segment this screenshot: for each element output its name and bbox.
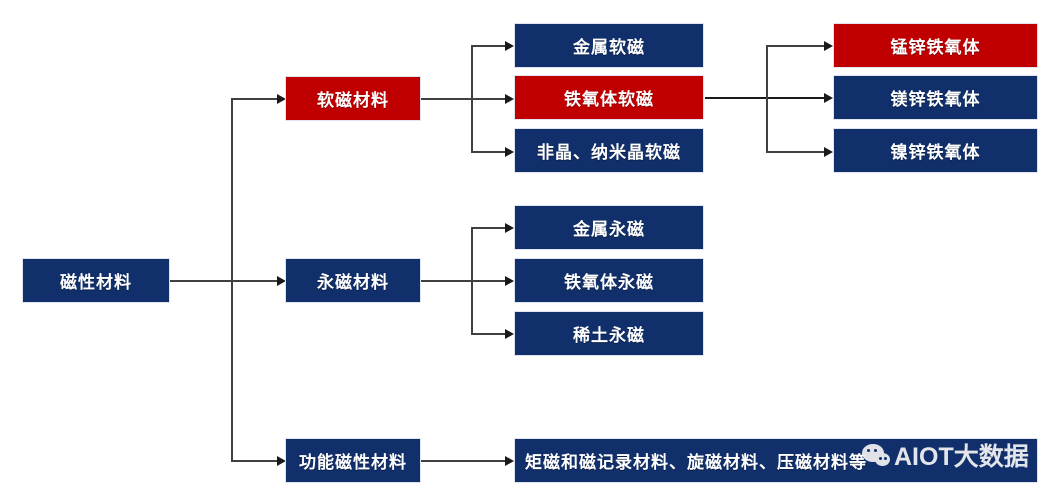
node-permanent-magnetic-material[interactable]: 永磁材料 — [285, 258, 421, 303]
arrow-to-metal-permanent — [505, 223, 514, 233]
node-label: 稀土永磁 — [573, 321, 645, 346]
connector-ferrite-to-nizn — [766, 151, 830, 153]
node-soft-magnetic-material[interactable]: 软磁材料 — [285, 76, 421, 121]
connector-ferrite-to-mnzn — [766, 45, 830, 47]
node-label: 镁锌铁氧体 — [891, 85, 981, 110]
connector-soft-branch-vertical — [471, 45, 473, 151]
connector-soft-stem — [421, 98, 511, 100]
node-functional-magnetic-material[interactable]: 功能磁性材料 — [285, 438, 421, 483]
node-rare-earth-permanent-magnet[interactable]: 稀土永磁 — [514, 311, 704, 356]
arrow-to-amorphous-soft — [505, 147, 514, 157]
diagram-canvas: 磁性材料 软磁材料 永磁材料 功能磁性材料 金属软磁 铁氧体软磁 非晶、纳米晶软… — [0, 0, 1048, 504]
node-label: 锰锌铁氧体 — [891, 33, 981, 58]
node-metal-soft-magnetic[interactable]: 金属软磁 — [514, 23, 704, 68]
connector-root-to-trunk — [170, 280, 232, 282]
connector-functional-stem — [421, 460, 511, 462]
node-label: 磁性材料 — [60, 268, 132, 293]
node-label: 铁氧体软磁 — [564, 85, 654, 110]
node-label: 非晶、纳米晶软磁 — [537, 138, 681, 163]
arrow-to-mnzn-ferrite — [824, 41, 833, 51]
arrow-to-nizn-ferrite — [824, 147, 833, 157]
arrow-to-ferrite-permanent — [505, 276, 514, 286]
node-label: 金属永磁 — [573, 215, 645, 240]
connector-ferrite-branch-vertical — [766, 45, 768, 151]
node-label: 金属软磁 — [573, 33, 645, 58]
connector-trunk-to-soft — [231, 98, 279, 100]
arrow-to-functional-child — [505, 456, 514, 466]
arrow-to-rare-earth-permanent — [505, 329, 514, 339]
node-amorphous-nanocrystalline-soft-magnetic[interactable]: 非晶、纳米晶软磁 — [514, 128, 704, 173]
arrow-to-metal-soft — [505, 41, 514, 51]
node-label: 镍锌铁氧体 — [891, 138, 981, 163]
node-label: 铁氧体永磁 — [564, 268, 654, 293]
connector-permanent-branch-vertical — [471, 227, 473, 333]
node-nickel-zinc-ferrite[interactable]: 镍锌铁氧体 — [833, 128, 1038, 173]
connector-permanent-stem — [421, 280, 511, 282]
arrow-to-ferrite-soft — [505, 94, 514, 104]
node-label: 矩磁和磁记录材料、旋磁材料、压磁材料等 — [525, 448, 867, 473]
connector-trunk-to-permanent — [231, 280, 279, 282]
arrow-to-mgzn-ferrite — [824, 93, 833, 103]
node-label: 永磁材料 — [317, 268, 389, 293]
node-ferrite-soft-magnetic[interactable]: 铁氧体软磁 — [514, 75, 704, 120]
node-metal-permanent-magnet[interactable]: 金属永磁 — [514, 205, 704, 250]
node-root-magnetic-materials[interactable]: 磁性材料 — [22, 258, 170, 303]
connector-trunk-to-functional — [231, 460, 279, 462]
node-label: 功能磁性材料 — [299, 448, 407, 473]
connector-ferrite-stem — [705, 97, 830, 99]
node-functional-magnetic-types[interactable]: 矩磁和磁记录材料、旋磁材料、压磁材料等 — [514, 438, 1038, 483]
node-label: 软磁材料 — [317, 86, 389, 111]
node-manganese-zinc-ferrite[interactable]: 锰锌铁氧体 — [833, 23, 1038, 68]
node-ferrite-permanent-magnet[interactable]: 铁氧体永磁 — [514, 258, 704, 303]
node-magnesium-zinc-ferrite[interactable]: 镁锌铁氧体 — [833, 75, 1038, 120]
